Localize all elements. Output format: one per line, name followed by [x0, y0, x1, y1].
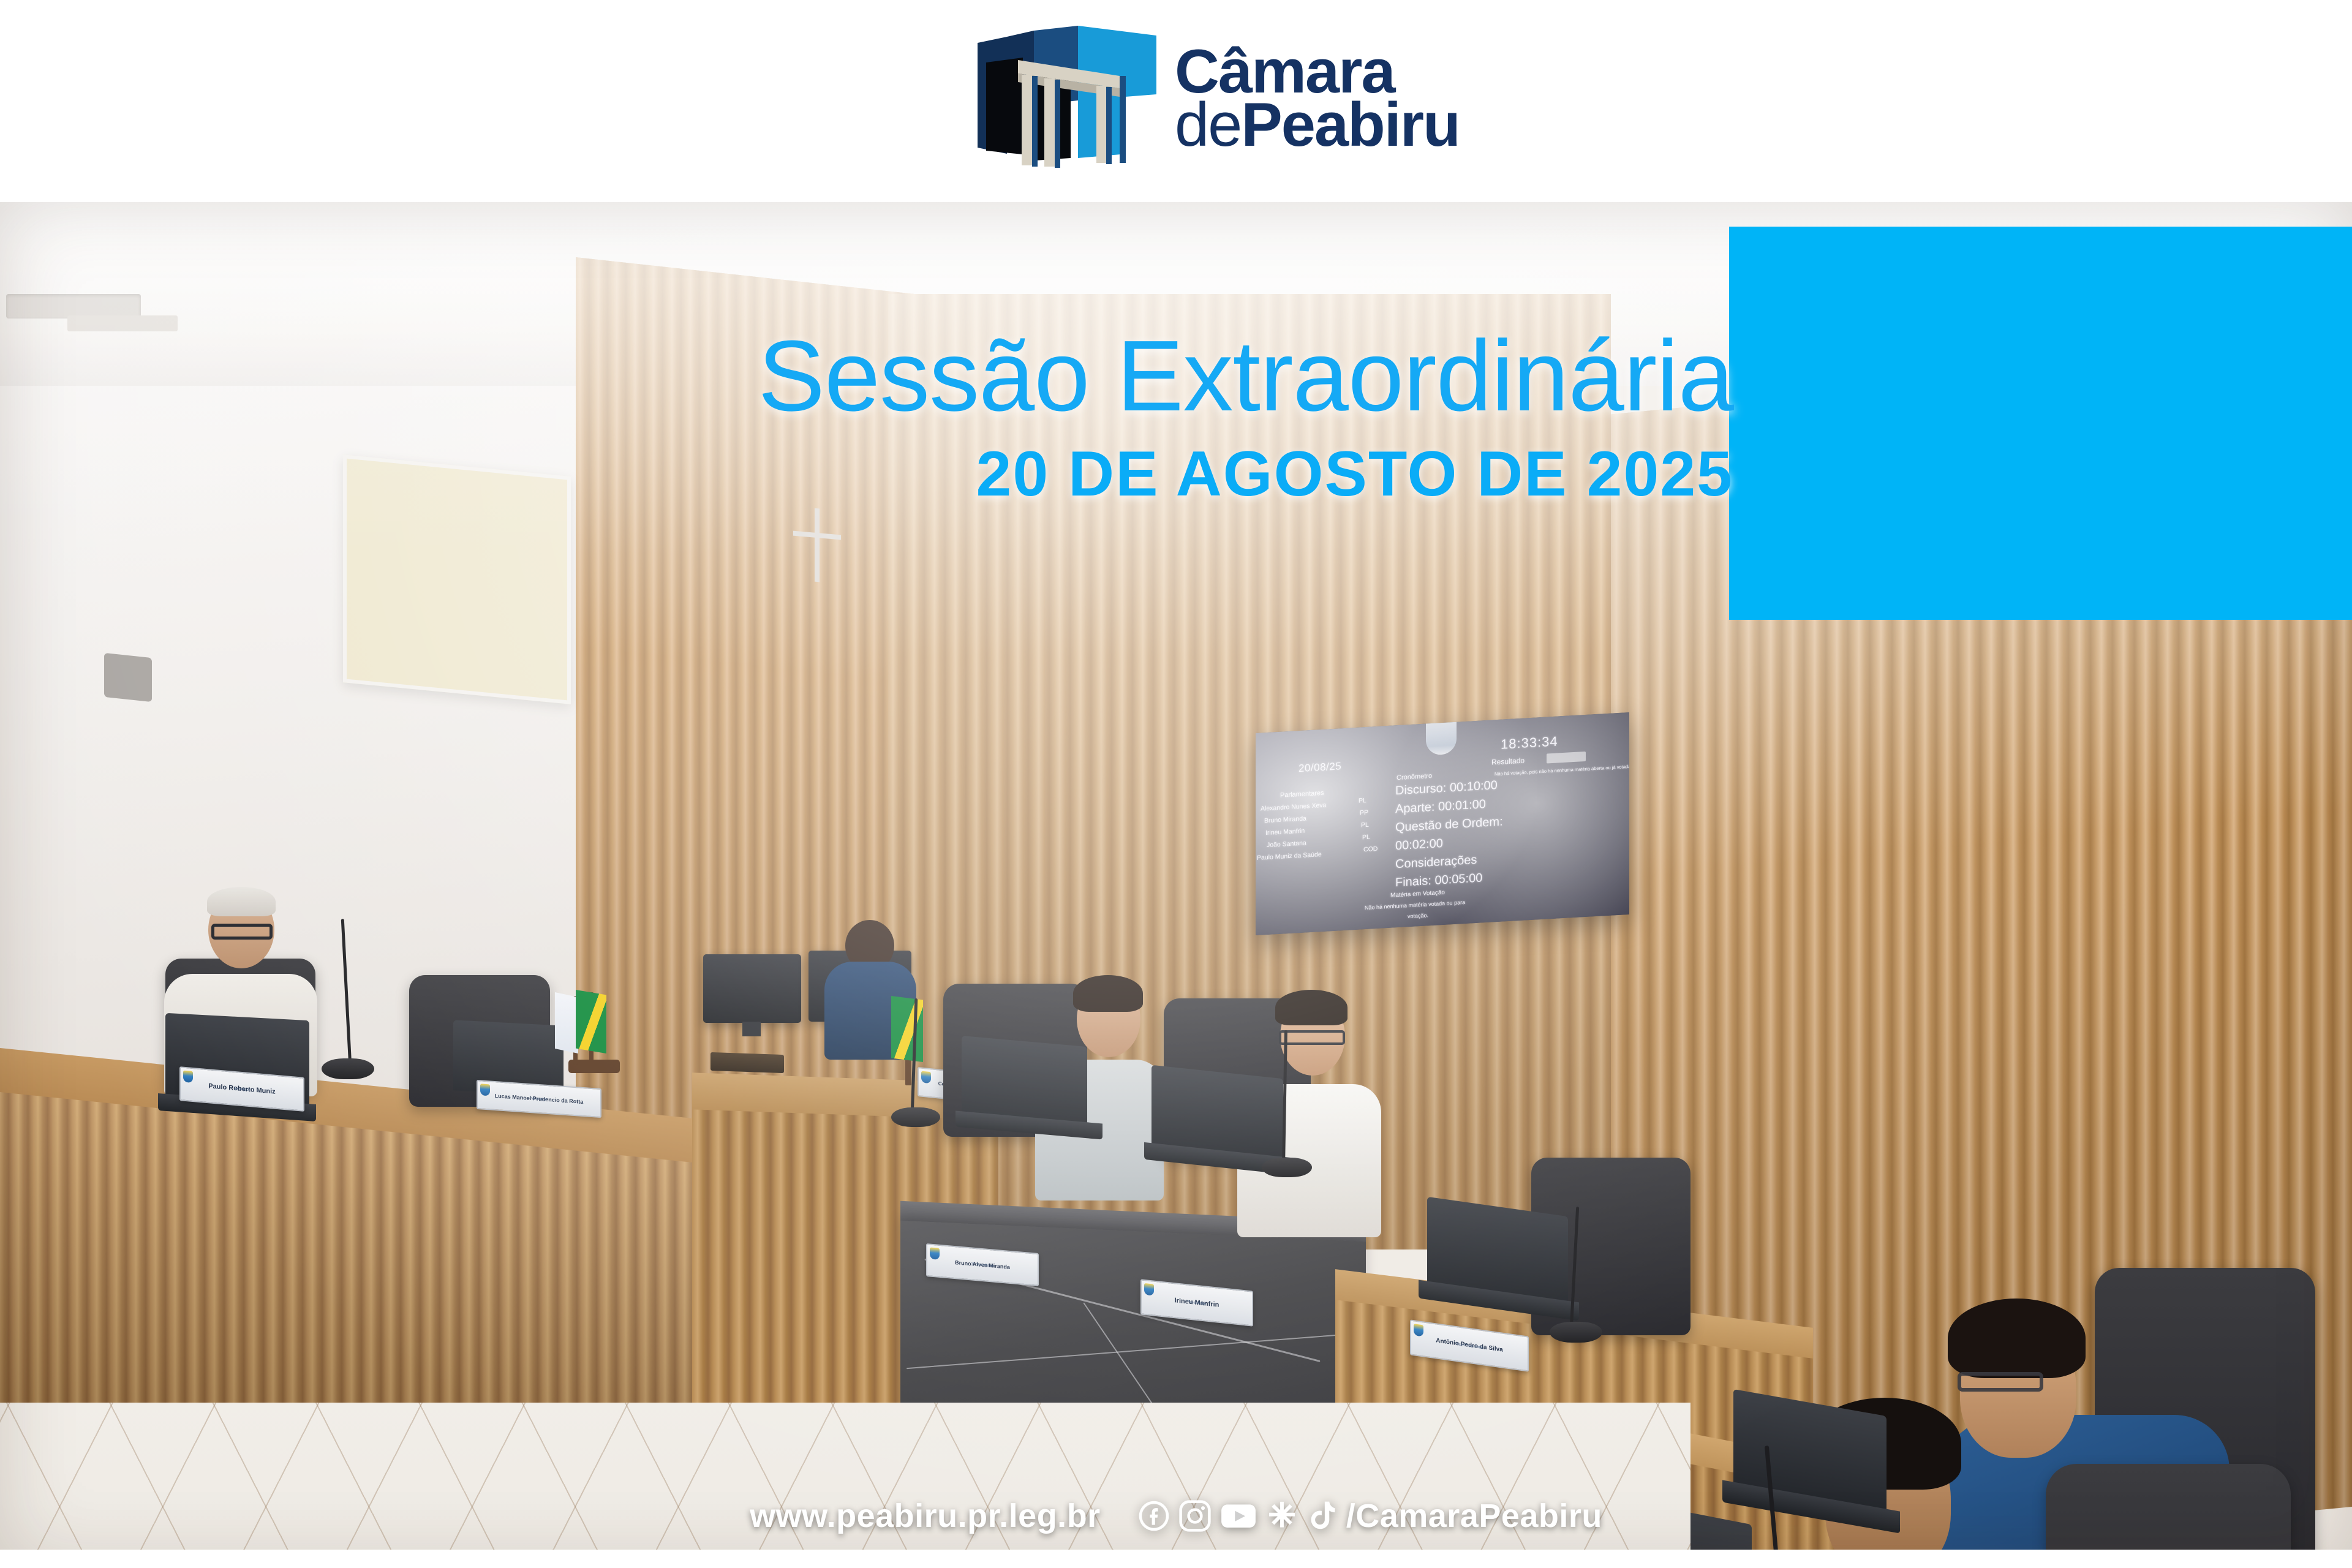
person-hair: [1948, 1298, 2086, 1378]
session-banner: 20/08/25 18:33:34 Resultado Não há votaç…: [0, 0, 2352, 1568]
kwai-icon[interactable]: [1265, 1499, 1298, 1532]
monitor: [703, 954, 801, 1023]
social-handle[interactable]: /CamaraPeabiru: [1346, 1497, 1602, 1535]
footer-white-strip: [0, 1550, 2352, 1568]
municipal-flag: [555, 992, 578, 1053]
microphone-base: [322, 1058, 374, 1079]
website-url[interactable]: www.peabiru.pr.leg.br: [750, 1497, 1101, 1535]
brazil-flag: [891, 996, 923, 1062]
person-hair: [1073, 975, 1143, 1012]
crest-icon: [1414, 1324, 1423, 1336]
screen-glare-secondary: [1378, 712, 1629, 935]
footer-bar: www.peabiru.pr.leg.br /CamaraPeabiru: [0, 1482, 2352, 1550]
glasses-icon: [1958, 1372, 2043, 1392]
brand-logo: Câmara dePeabiru: [975, 22, 1460, 175]
page-title: Sessão Extraordinária: [0, 326, 1733, 426]
tiktok-icon[interactable]: [1306, 1499, 1336, 1532]
nameplate-role: Vereador: [531, 1096, 547, 1102]
glasses-icon: [1279, 1030, 1345, 1045]
brazil-flag: [576, 990, 606, 1053]
brand-wordmark: Câmara dePeabiru: [1175, 45, 1460, 152]
brand-line-2-thin: de: [1175, 91, 1241, 159]
camara-building-logo-icon: [975, 22, 1159, 175]
facebook-icon[interactable]: [1137, 1499, 1170, 1532]
person-hair: [1275, 990, 1347, 1025]
desk-book: [710, 1052, 784, 1073]
brand-line-2-bold: Peabiru: [1241, 91, 1459, 159]
crest-icon: [183, 1071, 193, 1083]
page-subtitle-date: 20 DE AGOSTO DE 2025: [0, 442, 1733, 506]
crest-icon: [1144, 1283, 1154, 1296]
glasses-icon: [211, 924, 273, 940]
microphone-base: [891, 1107, 940, 1127]
crest-icon: [480, 1084, 490, 1096]
microphone-base: [1262, 1158, 1312, 1177]
header-bar: Câmara dePeabiru: [0, 0, 2352, 202]
monitor-stand: [742, 1022, 761, 1036]
youtube-icon[interactable]: [1219, 1499, 1257, 1532]
person-hair: [207, 887, 276, 916]
wall-cross-vertical: [815, 508, 820, 582]
brand-line-2: dePeabiru: [1175, 99, 1460, 152]
session-display-screen: 20/08/25 18:33:34 Resultado Não há votaç…: [1256, 712, 1629, 935]
wall-speaker: [104, 653, 152, 702]
instagram-icon[interactable]: [1178, 1499, 1212, 1532]
crest-icon: [930, 1247, 940, 1259]
social-links: /CamaraPeabiru: [1137, 1497, 1602, 1535]
crest-icon: [921, 1071, 931, 1084]
microphone-base: [1550, 1322, 1602, 1343]
blue-accent-block: [1729, 227, 2352, 620]
ceiling-vent: [6, 294, 141, 318]
